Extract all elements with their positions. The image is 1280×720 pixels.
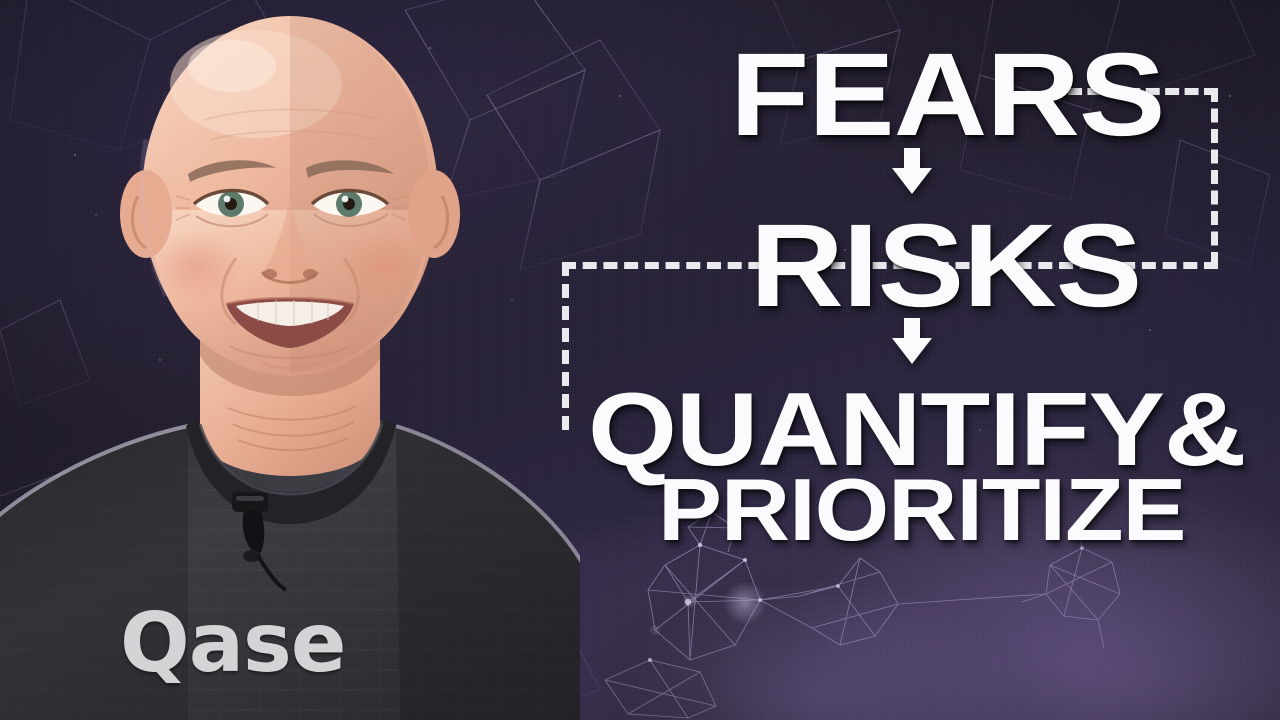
presenter-photo: Qase: [0, 0, 580, 720]
dashed-right-vertical: [1211, 88, 1218, 266]
flow-step-risks: RISKS: [750, 207, 1141, 325]
shirt-logo: Qase: [120, 596, 345, 691]
thumbnail-canvas: Qase FEARS RISKS QUANTIFY& PRIORITIZE: [0, 0, 1280, 720]
dashed-left-vertical: [562, 262, 569, 430]
flow-step-prioritize: PRIORITIZE: [658, 466, 1185, 554]
flow-step-fears: FEARS: [730, 36, 1164, 154]
flowchart: FEARS RISKS QUANTIFY& PRIORITIZE: [540, 0, 1280, 720]
